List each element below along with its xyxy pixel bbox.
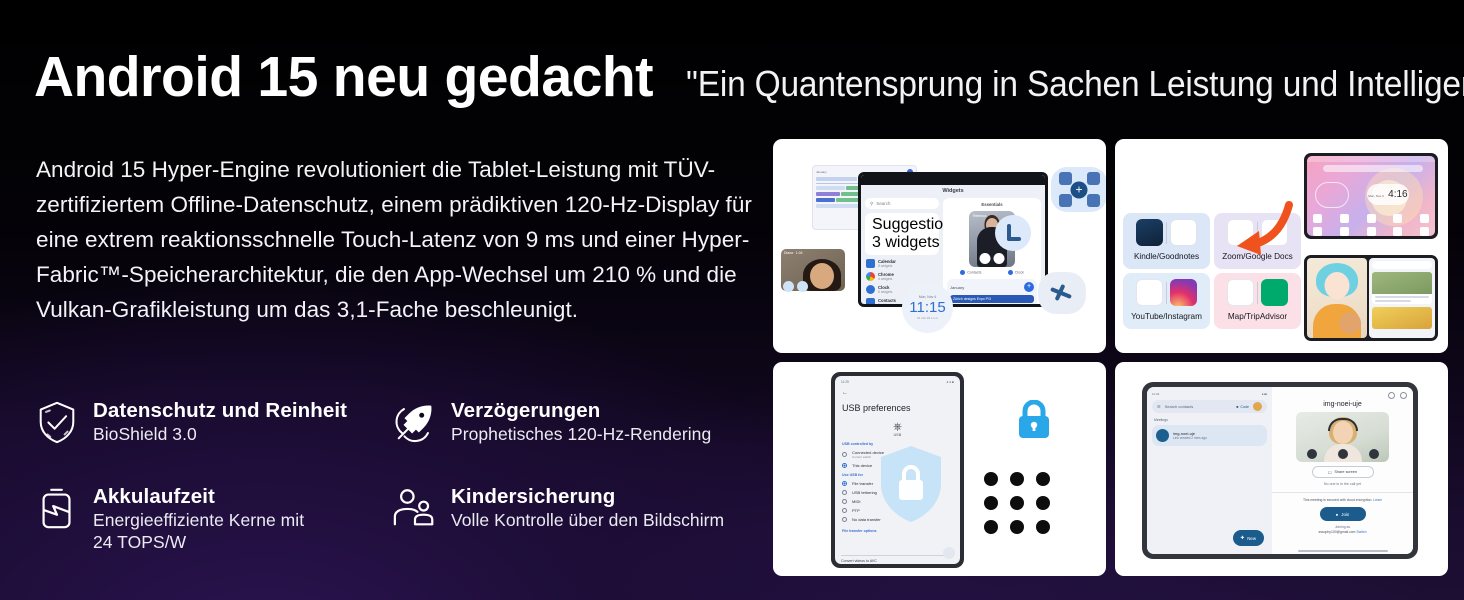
feature-item-latency: Verzögerungen Prophetisches 120-Hz-Rende… xyxy=(392,396,774,482)
contacts-icon xyxy=(866,298,875,304)
code-button[interactable]: ■ Code xyxy=(1236,405,1249,409)
joining-as-label: Joining as xyxy=(1277,525,1408,529)
feature-item-privacy: Datenschutz und Reinheit BioShield 3.0 xyxy=(34,396,392,482)
page-title: Android 15 neu gedacht xyxy=(34,44,653,110)
widget-app-calendar[interactable]: Calendar 5 widgets xyxy=(865,259,939,268)
search-pill[interactable] xyxy=(1323,165,1423,172)
screenshot-panels: January Widgets ⚲ Search xyxy=(773,139,1448,581)
account-row: sssophy100@gmail.com Switch xyxy=(1277,530,1408,534)
goodnotes-icon xyxy=(1170,219,1197,246)
feed-search[interactable] xyxy=(1372,261,1432,269)
kindle-icon xyxy=(1136,219,1163,246)
new-button-label: New xyxy=(1247,536,1256,541)
app-sub: 3 widgets xyxy=(878,303,896,304)
panel-meet[interactable]: 11:34●●■ ☰ Search contacts ■ Code Meetin… xyxy=(1115,362,1448,576)
shield-check-icon xyxy=(34,399,80,445)
feed-card xyxy=(1372,272,1432,304)
switch-account-link[interactable]: Switch xyxy=(1356,530,1366,534)
feature-title: Akkulaufzeit xyxy=(93,485,215,508)
statusbar xyxy=(1307,156,1435,162)
video-icon: ● xyxy=(1336,512,1339,517)
feed-card xyxy=(1372,307,1432,329)
chrome-icon xyxy=(866,272,875,281)
grid-icon[interactable] xyxy=(1087,194,1100,207)
pattern-dot-grid[interactable] xyxy=(978,467,1056,539)
learn-link[interactable]: Learn xyxy=(1373,498,1382,502)
call-button[interactable] xyxy=(980,253,991,264)
call-title: img-noei-uje xyxy=(1277,401,1408,408)
app-sub: 4 widgets xyxy=(878,277,894,281)
app-pair-kindle-goodnotes[interactable]: Kindle/Goodnotes xyxy=(1123,213,1210,269)
screen-share-icon: ☐ xyxy=(1328,470,1331,475)
video-button[interactable] xyxy=(994,253,1005,264)
option-label: MIDI xyxy=(852,499,860,504)
caller-name: Diana · 1:04 xyxy=(784,251,802,255)
fab-button[interactable] xyxy=(943,547,955,559)
home-indicator xyxy=(1298,550,1388,552)
share-screen-label: Share screen xyxy=(1334,470,1357,474)
illustration-app xyxy=(1307,258,1367,338)
add-event-button[interactable]: + xyxy=(1024,282,1034,292)
usb-icon-label: USB xyxy=(841,433,954,437)
camera-icon[interactable] xyxy=(1338,449,1348,459)
keyboard-icon: ■ xyxy=(1236,405,1238,409)
feature-subtitle: Energieeffiziente Kerne mit 24 TOPS/W xyxy=(93,509,323,553)
arrow-icon xyxy=(1223,201,1295,263)
usb-icon: ⎈ USB xyxy=(841,422,954,437)
panel-usb-preferences[interactable]: 11:25● ● ■ ← USB preferences ⎈ USB USB c… xyxy=(773,362,1106,576)
poster-root: Android 15 neu gedacht "Ein Quantensprun… xyxy=(0,0,1464,600)
widget-label-contacts: Contacts xyxy=(967,270,981,274)
pattern-dot[interactable] xyxy=(1036,520,1050,534)
feed-app xyxy=(1369,258,1435,338)
pattern-dot[interactable] xyxy=(1010,472,1024,486)
meet-call-pane: img-noei-uje ☐ Share screen xyxy=(1272,387,1413,554)
screen-statusbar xyxy=(861,175,1045,185)
pattern-dot[interactable] xyxy=(1036,472,1050,486)
feature-subtitle: Volle Kontrolle über den Bildschirm xyxy=(451,509,724,531)
usb-footer-section: File transfer options xyxy=(842,529,954,533)
add-button[interactable]: + xyxy=(1071,181,1088,198)
feature-title: Datenschutz und Reinheit xyxy=(93,399,347,422)
video-call-controls[interactable] xyxy=(783,281,808,349)
search-placeholder: Search xyxy=(876,201,890,206)
clock-widget-blob xyxy=(995,215,1031,251)
feature-item-parental: Kindersicherung Volle Kontrolle über den… xyxy=(392,482,774,553)
statusbar: 11:25● ● ■ xyxy=(841,380,954,384)
usb-footer-text: Convert videos to AVC xyxy=(841,559,877,563)
pattern-dot[interactable] xyxy=(984,496,998,510)
encryption-text: This meeting is secured with cloud encry… xyxy=(1303,498,1372,502)
home-clock: 4:16 xyxy=(1388,189,1407,200)
cast-icon[interactable] xyxy=(1388,392,1395,399)
join-label: Join xyxy=(1341,512,1349,517)
option-label: File transfer xyxy=(852,481,873,486)
description-paragraph: Android 15 Hyper-Engine revolutioniert d… xyxy=(36,152,752,327)
meet-screen: 11:34●●■ ☰ Search contacts ■ Code Meetin… xyxy=(1147,387,1413,554)
statusbar: 11:34●●■ xyxy=(1152,392,1267,396)
agenda-month: January xyxy=(950,285,964,290)
app-pair-label: YouTube/Instagram xyxy=(1131,312,1202,321)
rocket-icon xyxy=(392,399,438,445)
tablet-homescreen: Mon, Nov 4 4:16 xyxy=(1304,153,1438,239)
feature-subtitle: Prophetisches 120-Hz-Rendering xyxy=(451,423,711,445)
widgets-preview-pane: Essentials Rebecca Contacts Clock xyxy=(943,198,1041,304)
edit-icon[interactable] xyxy=(1059,172,1072,185)
agenda-item[interactable]: Zürich designs Expo P/3 xyxy=(950,295,1034,303)
feature-title: Kindersicherung xyxy=(451,485,615,508)
meet-search-input[interactable]: ☰ Search contacts ■ Code xyxy=(1152,400,1267,413)
self-preview-video xyxy=(1296,412,1389,462)
app-sub: 5 widgets xyxy=(878,290,892,294)
app-pair-youtube-instagram[interactable]: YouTube/Instagram xyxy=(1123,273,1210,329)
code-label: Code xyxy=(1240,405,1249,409)
settings-icon[interactable] xyxy=(1400,392,1407,399)
calendar-widget-title: January xyxy=(816,170,827,174)
widget-label-clock: Clock xyxy=(1015,270,1024,274)
option-label: USB tethering xyxy=(852,490,877,495)
mic-icon[interactable] xyxy=(1307,449,1317,459)
home-date: Mon, Nov 4 xyxy=(1368,192,1383,198)
panel-app-pairs[interactable]: Kindle/Goodnotes Zoom/Google Docs xyxy=(1115,139,1448,353)
empty-call-state: No one is in the call yet xyxy=(1277,482,1408,486)
app-pair-label: Map/TripAdvisor xyxy=(1228,312,1287,321)
clock-sub: 31 min 33 s s m xyxy=(917,316,938,320)
hand-widget-blob xyxy=(1038,272,1086,314)
calendar-widget-outline xyxy=(1315,182,1349,208)
call-top-icons[interactable] xyxy=(1388,392,1407,399)
google-maps-icon xyxy=(1227,279,1254,306)
app-pair-label: Kindle/Goodnotes xyxy=(1134,252,1199,261)
feature-item-battery: Akkulaufzeit Energieeffiziente Kerne mit… xyxy=(34,482,392,553)
plus-icon: ✚ xyxy=(1241,535,1245,541)
option-label: This device xyxy=(852,463,872,468)
feature-title: Verzögerungen xyxy=(451,399,600,422)
tablet-split-screen xyxy=(1304,255,1438,341)
pattern-dot[interactable] xyxy=(984,472,998,486)
pen-icon[interactable] xyxy=(1087,172,1100,185)
agenda-widget: January + Zürich designs Expo P/3 12:00 … xyxy=(947,279,1037,304)
share-screen-button[interactable]: ☐ Share screen xyxy=(1312,466,1374,478)
pattern-dot[interactable] xyxy=(1036,496,1050,510)
videocam-icon[interactable] xyxy=(797,281,808,292)
tablet-device-frame: 11:34●●■ ☰ Search contacts ■ Code Meetin… xyxy=(1142,382,1418,559)
join-button[interactable]: ● Join xyxy=(1320,507,1366,521)
homescreen-wallpaper: Mon, Nov 4 4:16 xyxy=(1307,156,1435,236)
search-icon: ⚲ xyxy=(870,201,873,207)
meeting-sub: Link created 2 mins ago xyxy=(1173,436,1207,440)
widgets-search-input[interactable]: ⚲ Search xyxy=(865,198,939,209)
pattern-dot[interactable] xyxy=(1010,496,1024,510)
lock-icon xyxy=(1016,400,1052,440)
clock-widget: Mon, Nov 4 4:16 xyxy=(1367,184,1409,205)
clock-blob: Mon, Nov 4 11:15 31 min 33 s s m xyxy=(902,282,953,333)
header: Android 15 neu gedacht "Ein Quantensprun… xyxy=(34,44,1448,110)
essentials-label: Essentials xyxy=(947,202,1037,207)
usb-heading: USB preferences xyxy=(842,403,954,413)
search-placeholder: Search contacts xyxy=(1165,404,1194,409)
panel-widgets[interactable]: January Widgets ⚲ Search xyxy=(773,139,1106,353)
clock-icon xyxy=(866,285,875,294)
contact-name: Rebecca xyxy=(973,214,986,218)
meeting-list-item[interactable]: img-noei-uje Link created 2 mins ago xyxy=(1152,425,1267,446)
back-arrow-icon[interactable]: ← xyxy=(842,390,954,396)
meetings-label: Meetings xyxy=(1154,418,1267,422)
clock-time: 11:15 xyxy=(909,299,945,316)
effects-icon[interactable] xyxy=(1369,449,1379,459)
pattern-dot[interactable] xyxy=(984,520,998,534)
widget-app-suggestions[interactable]: Suggestions 3 widgets xyxy=(865,213,939,255)
app-pair-map-tripadvisor[interactable]: Map/TripAdvisor xyxy=(1214,273,1301,329)
option-label: PTP xyxy=(852,508,860,513)
tripadvisor-icon xyxy=(1261,279,1288,306)
avatar[interactable] xyxy=(1253,402,1262,411)
meeting-avatar xyxy=(1156,429,1169,442)
youtube-icon xyxy=(1136,279,1163,306)
encryption-notice: This meeting is secured with cloud encry… xyxy=(1277,498,1408,502)
page-subtitle: "Ein Quantensprung in Sachen Leistung un… xyxy=(686,63,1464,105)
new-meeting-button[interactable]: ✚ New xyxy=(1233,530,1264,546)
battery-bolt-icon xyxy=(34,485,80,531)
feature-subtitle: BioShield 3.0 xyxy=(93,423,347,445)
download-icon[interactable] xyxy=(1059,194,1072,207)
instagram-icon xyxy=(1170,279,1197,306)
widget-app-chrome[interactable]: Chrome 4 widgets xyxy=(865,272,939,281)
account-email: sssophy100@gmail.com xyxy=(1319,530,1356,534)
app-sub: 5 widgets xyxy=(878,264,896,268)
pattern-dot[interactable] xyxy=(1010,520,1024,534)
parental-control-icon xyxy=(392,485,438,531)
quick-actions-blob: + xyxy=(1051,167,1106,212)
meet-sidebar: 11:34●●■ ☰ Search contacts ■ Code Meetin… xyxy=(1147,387,1272,554)
call-icon[interactable] xyxy=(783,281,794,292)
shield-lock-overlay-icon xyxy=(877,444,945,524)
menu-icon[interactable]: ☰ xyxy=(1157,404,1161,409)
feature-list: Datenschutz und Reinheit BioShield 3.0 V… xyxy=(34,396,774,553)
